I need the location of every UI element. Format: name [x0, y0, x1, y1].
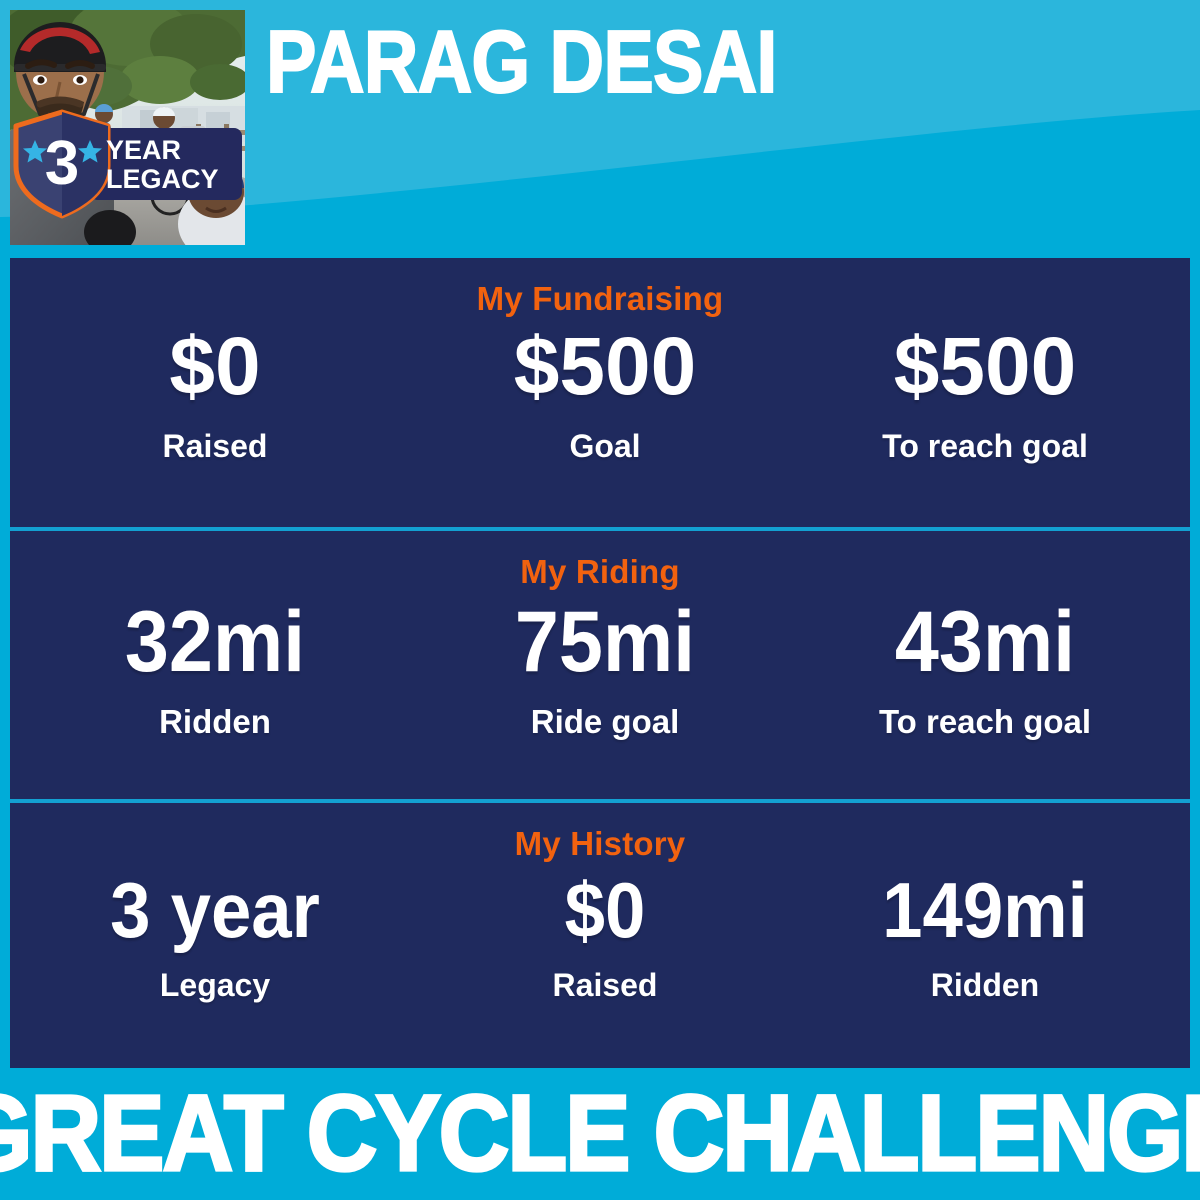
stat-to-reach-goal: $500 To reach goal [800, 326, 1170, 526]
stat-raised: $0 Raised [40, 326, 390, 526]
stats-panel: My Fundraising $0 Raised $500 Goal $500 … [10, 258, 1190, 1068]
stat-label: Goal [430, 428, 780, 465]
section-riding: My Riding 32mi Ridden 75mi Ride goal 43m… [10, 531, 1190, 799]
stat-row-riding: 32mi Ridden 75mi Ride goal 43mi To reach… [10, 599, 1190, 799]
section-title-riding: My Riding [10, 553, 1190, 591]
stat-row-fundraising: $0 Raised $500 Goal $500 To reach goal [10, 326, 1190, 526]
stat-value: $500 [800, 326, 1170, 408]
title-block: PARAG DESAI [266, 14, 1166, 246]
section-fundraising: My Fundraising $0 Raised $500 Goal $500 … [10, 258, 1190, 527]
stat-label: Ridden [800, 967, 1170, 1004]
legacy-years: 3 [45, 129, 79, 198]
stat-value: $0 [40, 326, 390, 408]
page-title: PARAG DESAI [266, 14, 1040, 110]
header-banner: PARAG DESAI 3 YEAR LEGACY [0, 0, 1200, 258]
stat-to-reach-ride-goal: 43mi To reach goal [800, 599, 1170, 799]
stat-value: $0 [442, 871, 768, 949]
stat-value: 75mi [444, 599, 766, 685]
stat-ride-goal: 75mi Ride goal [430, 599, 780, 799]
stat-value: 43mi [815, 599, 1155, 685]
stat-value: 149mi [813, 871, 1157, 949]
stat-row-history: 3 year Legacy $0 Raised 149mi Ridden [10, 871, 1190, 1071]
stat-label: Ridden [40, 703, 390, 741]
stat-history-raised: $0 Raised [430, 871, 780, 1071]
section-title-history: My History [10, 825, 1190, 863]
legacy-line-1: YEAR [106, 135, 181, 165]
brand-logo-text: GREAT CYCLE CHALLENGE [0, 1078, 1200, 1190]
stat-legacy: 3 year Legacy [40, 871, 390, 1071]
footer-banner: GREAT CYCLE CHALLENGE [0, 1068, 1200, 1200]
section-title-fundraising: My Fundraising [10, 280, 1190, 318]
stat-goal: $500 Goal [430, 326, 780, 526]
stat-value: $500 [430, 326, 780, 408]
stat-value: 3 year [52, 871, 378, 949]
stat-ridden: 32mi Ridden [40, 599, 390, 799]
stat-label: Legacy [40, 967, 390, 1004]
legacy-line-2: LEGACY [106, 164, 219, 194]
section-history: My History 3 year Legacy $0 Raised 149mi… [10, 803, 1190, 1068]
stat-label: Raised [430, 967, 780, 1004]
shield-icon: 3 [16, 112, 108, 216]
stat-value: 32mi [54, 599, 376, 685]
stat-label: To reach goal [800, 703, 1170, 741]
stat-label: To reach goal [800, 428, 1170, 465]
stat-label: Raised [40, 428, 390, 465]
stat-history-ridden: 149mi Ridden [800, 871, 1170, 1071]
legacy-badge: 3 YEAR LEGACY [2, 108, 242, 220]
stat-label: Ride goal [430, 703, 780, 741]
